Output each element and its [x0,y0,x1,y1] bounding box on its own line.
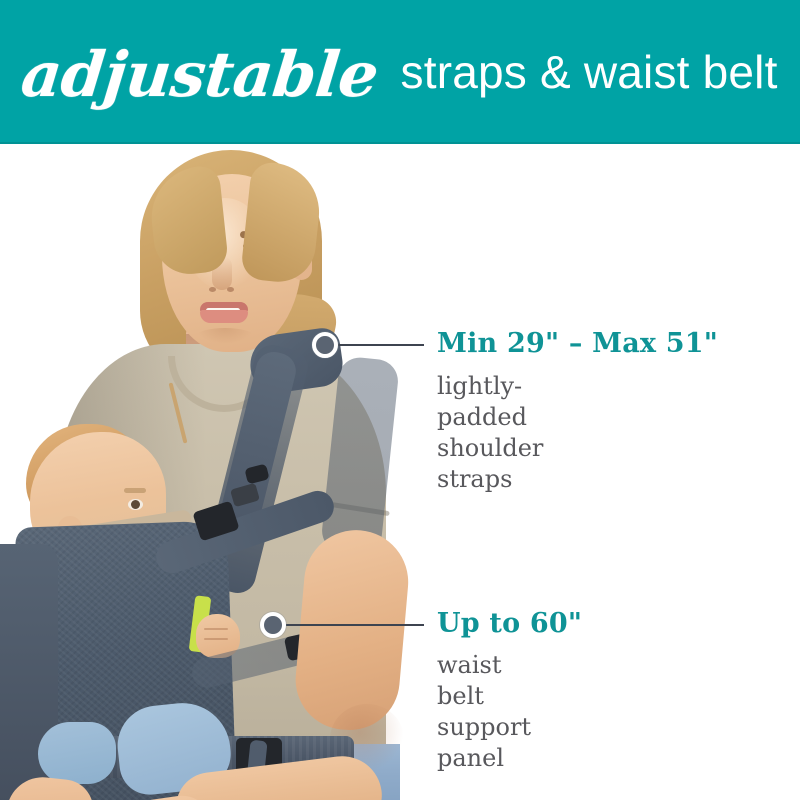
callout-dot-shoulder-straps[interactable] [312,332,338,358]
product-photo: Min 29" – Max 51" lightly-padded shoulde… [0,144,800,800]
callout-leader-line-1 [338,344,424,346]
subject-woman-and-baby [0,144,440,800]
callout-body-shoulder-straps: lightly-padded shoulder straps [437,371,543,495]
banner-headline: adjustable straps & waist belt [0,0,800,144]
nostril-left [209,287,216,292]
arm-upper [291,526,412,734]
baby-eyebrow [124,488,146,493]
callout-body-waist-belt: waist belt support panel [437,650,531,774]
fist-crease-2 [204,638,228,640]
nostril-right [227,287,234,292]
baby-iris [131,500,140,509]
headline-plain-words: straps & waist belt [401,45,778,99]
baby-leg-left [38,722,116,784]
callout-title-shoulder-straps: Min 29" – Max 51" [437,328,718,359]
callout-leader-line-2 [286,624,424,626]
chin-shadow [196,328,254,344]
fist-crease-1 [204,628,228,630]
callout-dot-waist-belt[interactable] [260,612,286,638]
lower-lip [200,310,248,323]
headline-script-word: adjustable [18,38,382,111]
callout-title-waist-belt: Up to 60" [437,608,582,639]
product-feature-graphic: adjustable straps & waist belt [0,0,800,800]
header-banner: adjustable straps & waist belt [0,0,800,144]
